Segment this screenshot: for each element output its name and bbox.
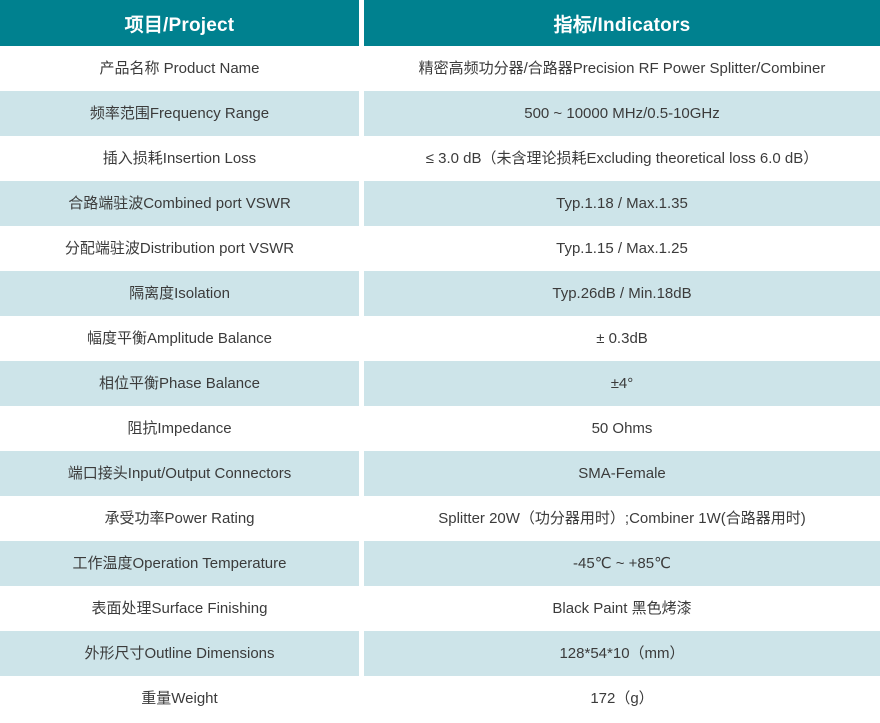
- table-body: 产品名称 Product Name精密高频功分器/合路器Precision RF…: [0, 46, 880, 721]
- spec-project-cell: 分配端驻波Distribution port VSWR: [0, 226, 359, 271]
- spec-indicator-cell: Typ.1.15 / Max.1.25: [364, 226, 880, 271]
- column-header-indicators: 指标/Indicators: [364, 0, 880, 46]
- spec-project-cell: 产品名称 Product Name: [0, 46, 359, 91]
- spec-indicator-cell: 172（g）: [364, 676, 880, 721]
- table-row: 合路端驻波Combined port VSWRTyp.1.18 / Max.1.…: [0, 181, 880, 226]
- specification-table: 项目/Project 指标/Indicators 产品名称 Product Na…: [0, 0, 880, 721]
- table-row: 插入损耗Insertion Loss≤ 3.0 dB（未含理论损耗Excludi…: [0, 136, 880, 181]
- table-row: 幅度平衡Amplitude Balance± 0.3dB: [0, 316, 880, 361]
- spec-indicator-cell: Typ.26dB / Min.18dB: [364, 271, 880, 316]
- spec-project-cell: 频率范围Frequency Range: [0, 91, 359, 136]
- spec-indicator-cell: ≤ 3.0 dB（未含理论损耗Excluding theoretical los…: [364, 136, 880, 181]
- spec-project-cell: 重量Weight: [0, 676, 359, 721]
- spec-indicator-cell: 500 ~ 10000 MHz/0.5-10GHz: [364, 91, 880, 136]
- table-row: 外形尺寸Outline Dimensions128*54*10（mm）: [0, 631, 880, 676]
- table-row: 阻抗Impedance50 Ohms: [0, 406, 880, 451]
- table-row: 分配端驻波Distribution port VSWRTyp.1.15 / Ma…: [0, 226, 880, 271]
- table-row: 重量Weight172（g）: [0, 676, 880, 721]
- spec-project-cell: 表面处理Surface Finishing: [0, 586, 359, 631]
- spec-project-cell: 幅度平衡Amplitude Balance: [0, 316, 359, 361]
- spec-indicator-cell: ± 0.3dB: [364, 316, 880, 361]
- table-row: 隔离度IsolationTyp.26dB / Min.18dB: [0, 271, 880, 316]
- spec-indicator-cell: 精密高频功分器/合路器Precision RF Power Splitter/C…: [364, 46, 880, 91]
- spec-indicator-cell: 128*54*10（mm）: [364, 631, 880, 676]
- spec-indicator-cell: Black Paint 黑色烤漆: [364, 586, 880, 631]
- column-header-project: 项目/Project: [0, 0, 359, 46]
- table-row: 相位平衡Phase Balance±4°: [0, 361, 880, 406]
- spec-project-cell: 相位平衡Phase Balance: [0, 361, 359, 406]
- spec-project-cell: 工作温度Operation Temperature: [0, 541, 359, 586]
- table-header: 项目/Project 指标/Indicators: [0, 0, 880, 46]
- table-row: 频率范围Frequency Range500 ~ 10000 MHz/0.5-1…: [0, 91, 880, 136]
- spec-indicator-cell: -45℃ ~ +85℃: [364, 541, 880, 586]
- spec-project-cell: 阻抗Impedance: [0, 406, 359, 451]
- spec-project-cell: 合路端驻波Combined port VSWR: [0, 181, 359, 226]
- table-row: 表面处理Surface FinishingBlack Paint 黑色烤漆: [0, 586, 880, 631]
- spec-project-cell: 外形尺寸Outline Dimensions: [0, 631, 359, 676]
- spec-indicator-cell: Splitter 20W（功分器用时）;Combiner 1W(合路器用时): [364, 496, 880, 541]
- spec-indicator-cell: ±4°: [364, 361, 880, 406]
- spec-project-cell: 插入损耗Insertion Loss: [0, 136, 359, 181]
- spec-indicator-cell: Typ.1.18 / Max.1.35: [364, 181, 880, 226]
- header-row: 项目/Project 指标/Indicators: [0, 0, 880, 46]
- table-row: 承受功率Power RatingSplitter 20W（功分器用时）;Comb…: [0, 496, 880, 541]
- spec-project-cell: 承受功率Power Rating: [0, 496, 359, 541]
- spec-indicator-cell: 50 Ohms: [364, 406, 880, 451]
- table-row: 工作温度Operation Temperature-45℃ ~ +85℃: [0, 541, 880, 586]
- spec-project-cell: 隔离度Isolation: [0, 271, 359, 316]
- spec-indicator-cell: SMA-Female: [364, 451, 880, 496]
- spec-project-cell: 端口接头Input/Output Connectors: [0, 451, 359, 496]
- table-row: 端口接头Input/Output ConnectorsSMA-Female: [0, 451, 880, 496]
- table-row: 产品名称 Product Name精密高频功分器/合路器Precision RF…: [0, 46, 880, 91]
